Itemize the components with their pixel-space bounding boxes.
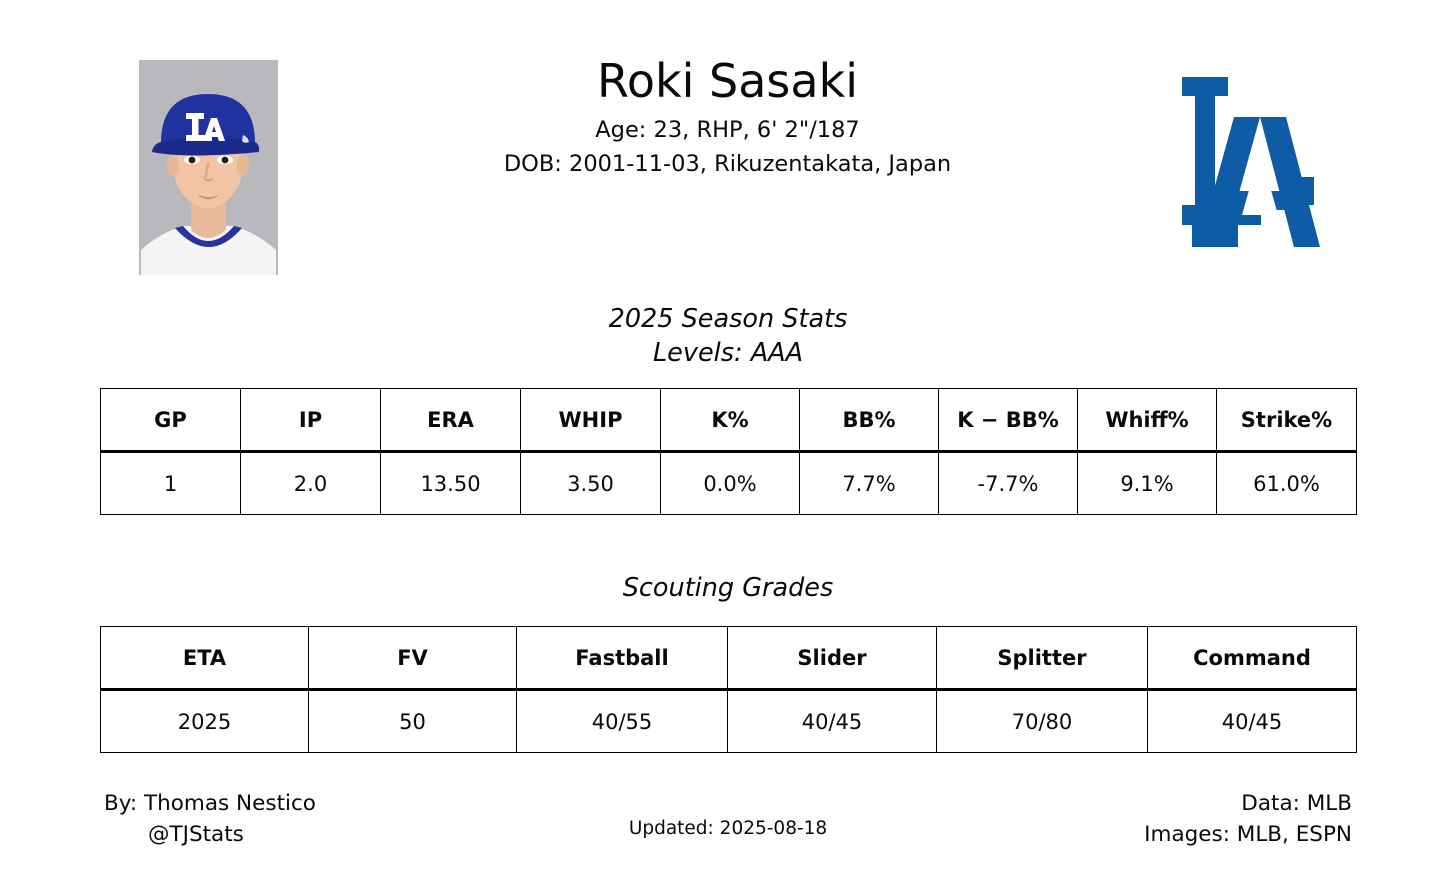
headshot-illustration	[139, 60, 278, 275]
data-source: Data: MLB	[1144, 788, 1352, 819]
col-header-whip: WHIP	[521, 389, 661, 452]
season-stats-levels-line: Levels: AAA	[0, 337, 1456, 371]
page-title: Roki Sasaki	[300, 55, 1155, 108]
season-stats-title-line: 2025 Season Stats	[0, 303, 1456, 337]
season-stats-table-wrapper: GP IP ERA WHIP K% BB% K − BB% Whiff% Str…	[100, 388, 1356, 515]
scouting-grades-title: Scouting Grades	[0, 572, 1456, 606]
cell-strike-pct: 61.0%	[1217, 452, 1357, 515]
col-header-strike-pct: Strike%	[1217, 389, 1357, 452]
player-bio-line-1: Age: 23, RHP, 6' 2"/187	[300, 114, 1155, 148]
cell-fastball: 40/55	[517, 690, 728, 753]
source-credit: Data: MLB Images: MLB, ESPN	[1144, 788, 1352, 850]
cell-gp: 1	[101, 452, 241, 515]
col-header-fastball: Fastball	[517, 627, 728, 690]
author-name: By: Thomas Nestico	[104, 788, 316, 819]
col-header-k-pct: K%	[661, 389, 800, 452]
table-row: 2025 50 40/55 40/45 70/80 40/45	[101, 690, 1357, 753]
player-title-block: Roki Sasaki Age: 23, RHP, 6' 2"/187 DOB:…	[300, 55, 1155, 181]
card-footer: By: Thomas Nestico @TJStats Updated: 202…	[0, 780, 1456, 875]
cell-eta: 2025	[101, 690, 309, 753]
cell-slider: 40/45	[728, 690, 937, 753]
cell-command: 40/45	[1148, 690, 1357, 753]
table-header-row: GP IP ERA WHIP K% BB% K − BB% Whiff% Str…	[101, 389, 1357, 452]
season-stats-title: 2025 Season Stats Levels: AAA	[0, 303, 1456, 370]
col-header-command: Command	[1148, 627, 1357, 690]
table-header-row: ETA FV Fastball Slider Splitter Command	[101, 627, 1357, 690]
table-row: 1 2.0 13.50 3.50 0.0% 7.7% -7.7% 9.1% 61…	[101, 452, 1357, 515]
season-stats-table: GP IP ERA WHIP K% BB% K − BB% Whiff% Str…	[100, 388, 1357, 515]
cell-k-minus-bb-pct: -7.7%	[939, 452, 1078, 515]
col-header-gp: GP	[101, 389, 241, 452]
cell-whiff-pct: 9.1%	[1078, 452, 1217, 515]
image-source: Images: MLB, ESPN	[1144, 819, 1352, 850]
cell-ip: 2.0	[241, 452, 381, 515]
cell-whip: 3.50	[521, 452, 661, 515]
dodgers-la-logo	[1168, 55, 1336, 275]
scouting-grades-table-wrapper: ETA FV Fastball Slider Splitter Command …	[100, 626, 1356, 753]
scouting-grades-title-line: Scouting Grades	[0, 572, 1456, 606]
col-header-splitter: Splitter	[937, 627, 1148, 690]
col-header-whiff-pct: Whiff%	[1078, 389, 1217, 452]
player-bio-line-2: DOB: 2001-11-03, Rikuzentakata, Japan	[300, 148, 1155, 182]
cell-era: 13.50	[381, 452, 521, 515]
cell-bb-pct: 7.7%	[800, 452, 939, 515]
col-header-era: ERA	[381, 389, 521, 452]
cell-k-pct: 0.0%	[661, 452, 800, 515]
card-header: Roki Sasaki Age: 23, RHP, 6' 2"/187 DOB:…	[0, 0, 1456, 290]
col-header-bb-pct: BB%	[800, 389, 939, 452]
col-header-eta: ETA	[101, 627, 309, 690]
col-header-ip: IP	[241, 389, 381, 452]
player-headshot	[139, 60, 278, 275]
col-header-k-minus-bb-pct: K − BB%	[939, 389, 1078, 452]
cell-fv: 50	[309, 690, 517, 753]
scouting-grades-table: ETA FV Fastball Slider Splitter Command …	[100, 626, 1357, 753]
cell-splitter: 70/80	[937, 690, 1148, 753]
col-header-fv: FV	[309, 627, 517, 690]
col-header-slider: Slider	[728, 627, 937, 690]
la-logo-icon	[1168, 55, 1336, 275]
